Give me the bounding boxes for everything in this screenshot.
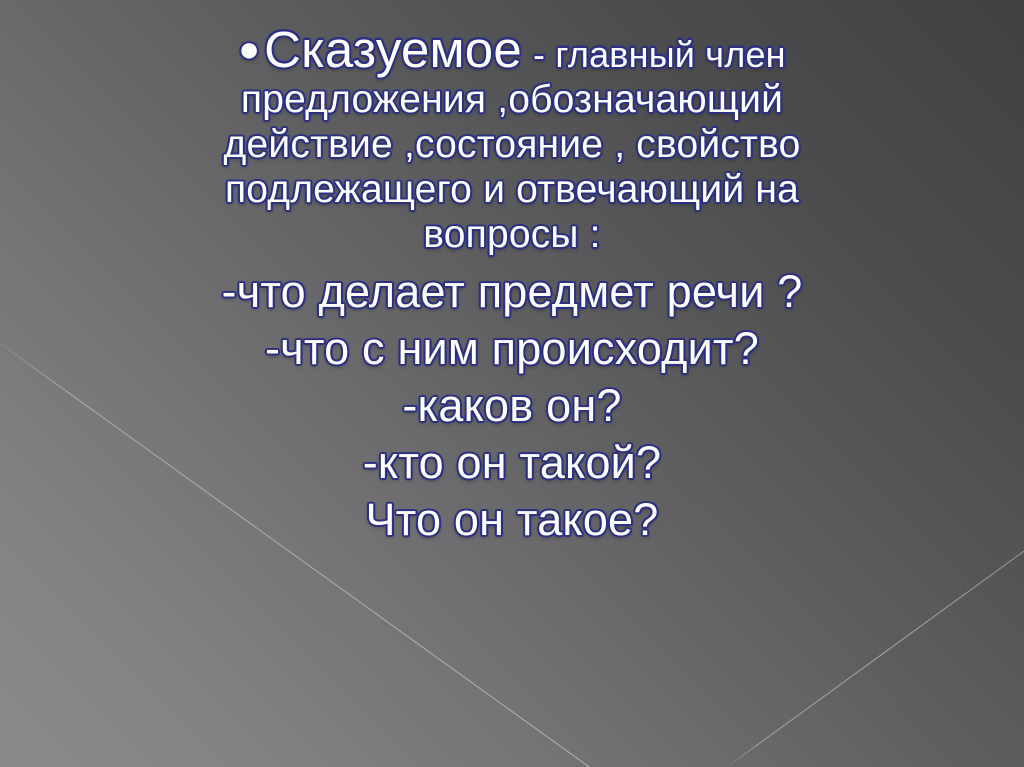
definition-line-4: подлежащего и отвечающий на	[22, 167, 1002, 212]
definition-line-2: предложения ,обозначающий	[22, 77, 1002, 122]
definition-run-glavny-chlen: - главный член	[533, 34, 786, 75]
presentation-slide: ●Сказуемое - главный член предложения ,о…	[0, 0, 1024, 767]
question-item-5: Что он такое?	[22, 491, 1002, 548]
term-skazuemoe: Сказуемое	[264, 21, 522, 78]
question-item-2: -что с ним происходит?	[22, 320, 1002, 377]
definition-first-line: ●Сказуемое - главный член	[22, 26, 1002, 77]
question-item-3: -каков он?	[22, 377, 1002, 434]
slide-text-content: ●Сказуемое - главный член предложения ,о…	[0, 26, 1024, 548]
definition-line-3: действие ,состояние , свойство	[22, 122, 1002, 167]
definition-line-5: вопросы :	[22, 212, 1002, 257]
question-item-1: -что делает предмет речи ?	[22, 263, 1002, 320]
bullet-point-icon: ●	[238, 28, 264, 69]
question-item-4: -кто он такой?	[22, 434, 1002, 491]
